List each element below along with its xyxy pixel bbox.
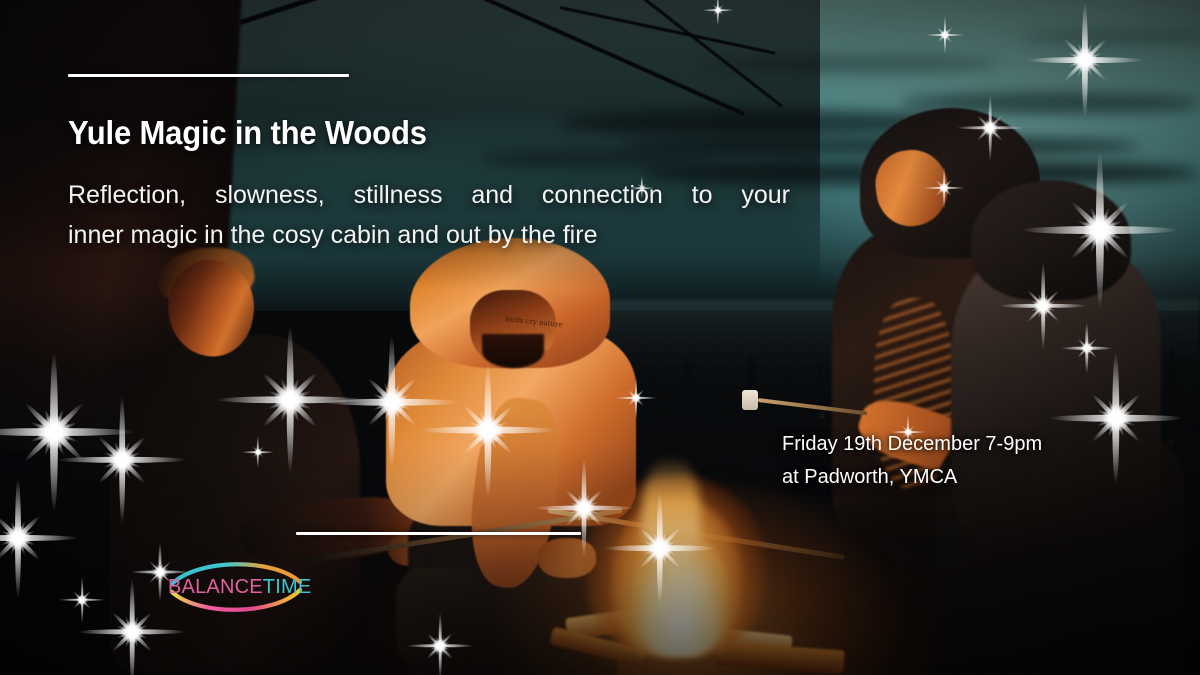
page-title: Yule Magic in the Woods <box>68 114 427 152</box>
event-location: at Padworth, YMCA <box>782 461 1042 494</box>
text-overlay: Yule Magic in the Woods Reflection, slow… <box>0 0 1200 675</box>
event-details: Friday 19th December 7-9pm at Padworth, … <box>782 428 1042 494</box>
logo-wordmark: BALANCETIME <box>168 576 304 599</box>
balancetime-logo[interactable]: BALANCETIME <box>168 556 304 618</box>
event-date-time: Friday 19th December 7-9pm <box>782 428 1042 461</box>
logo-word-time: TIME <box>263 576 312 598</box>
divider-mid <box>296 532 581 535</box>
event-poster: birds cry nature <box>0 0 1200 675</box>
subtitle: Reflection, slowness, stillness and conn… <box>68 175 790 255</box>
subtitle-line-2: inner magic in the cosy cabin and out by… <box>68 215 790 255</box>
divider-top <box>68 74 349 77</box>
subtitle-line-1: Reflection, slowness, stillness and conn… <box>68 175 790 215</box>
logo-word-balance: BALANCE <box>168 576 263 598</box>
